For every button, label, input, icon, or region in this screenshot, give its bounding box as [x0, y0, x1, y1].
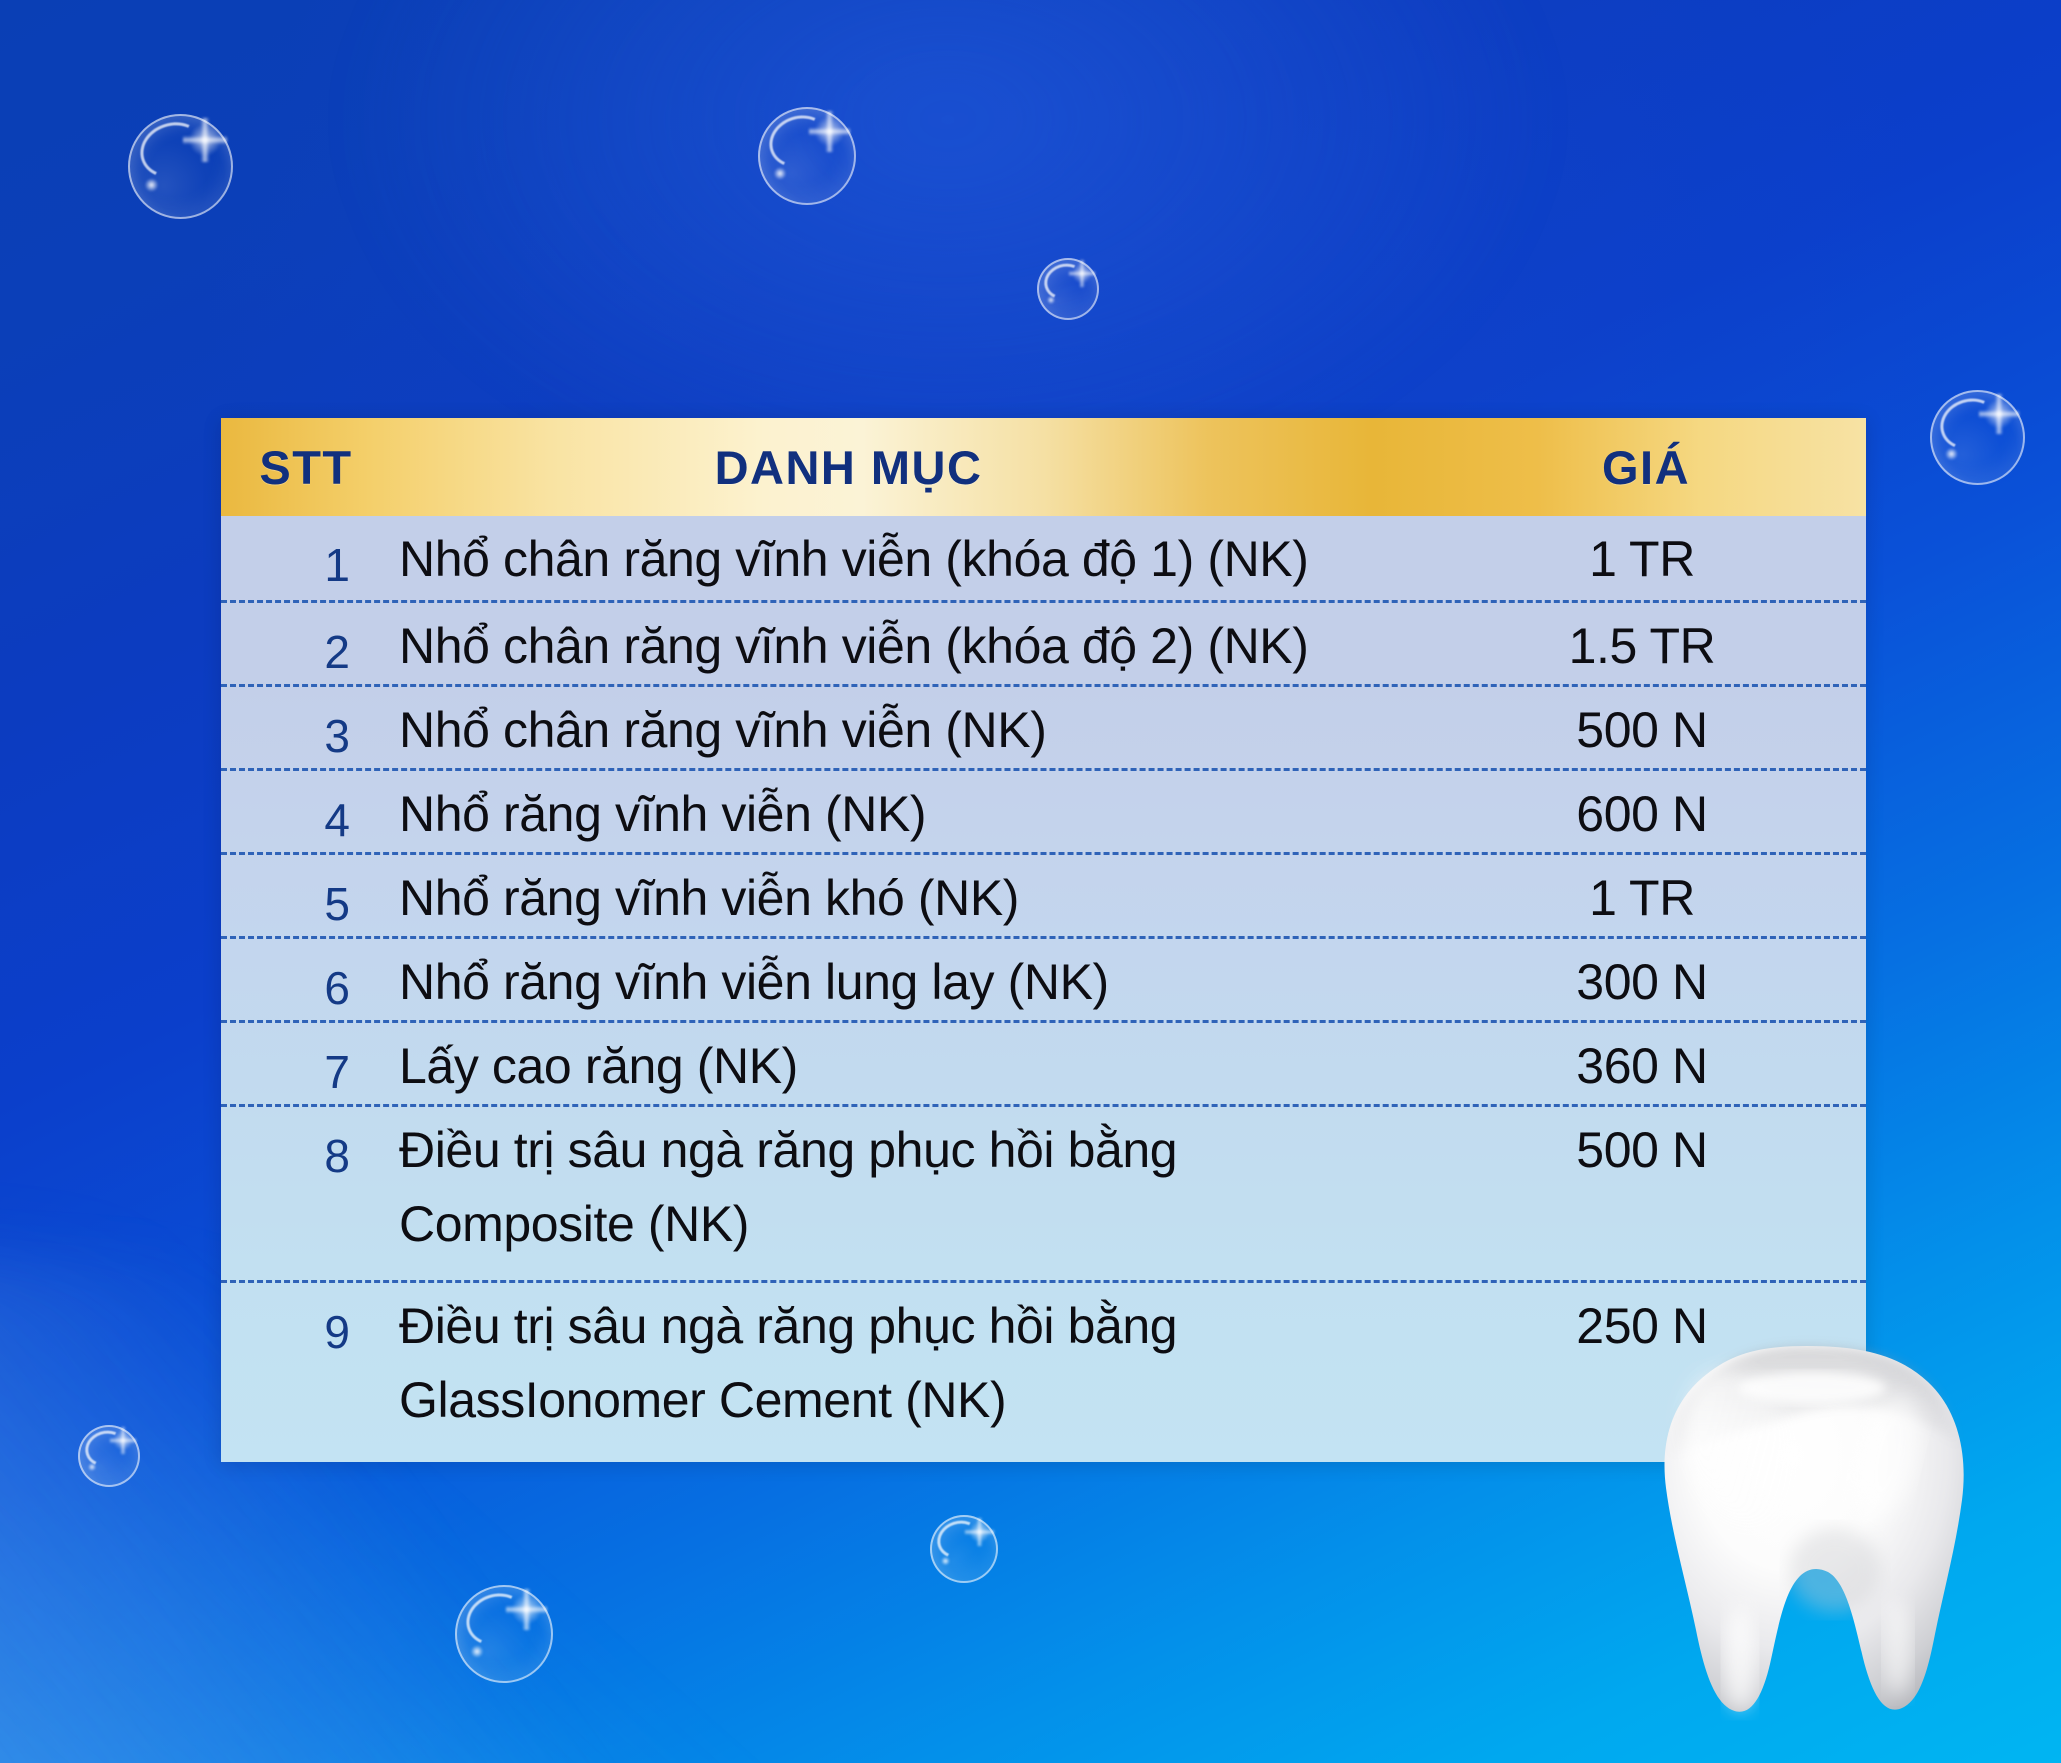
table-row: 9Điều trị sâu ngà răng phục hồi bằng Gla… — [221, 1280, 1866, 1456]
bubble-top-left-icon — [128, 114, 233, 219]
cell-price: 360 N — [1466, 1023, 1866, 1103]
cell-stt: 5 — [221, 855, 371, 931]
cell-stt: 7 — [221, 1023, 371, 1099]
table-row: 7Lấy cao răng (NK)360 N — [221, 1020, 1866, 1104]
cell-service-name: Lấy cao răng (NK) — [371, 1023, 1466, 1103]
cell-price: 250 N — [1466, 1283, 1866, 1363]
table-row: 2Nhổ chân răng vĩnh viễn (khóa độ 2) (NK… — [221, 600, 1866, 684]
cell-stt: 3 — [221, 687, 371, 763]
table-row: 3Nhổ chân răng vĩnh viễn (NK)500 N — [221, 684, 1866, 768]
table-row: 8Điều trị sâu ngà răng phục hồi bằng Com… — [221, 1104, 1866, 1280]
price-table: STT DANH MỤC GIÁ 1Nhổ chân răng vĩnh viễ… — [221, 418, 1866, 1462]
cell-price: 500 N — [1466, 687, 1866, 767]
cell-service-name: Điều trị sâu ngà răng phục hồi bằng Comp… — [371, 1107, 1466, 1261]
column-header-stt: STT — [221, 440, 391, 495]
bubble-highlight-icon — [88, 1463, 96, 1471]
cell-service-name: Nhổ răng vĩnh viễn lung lay (NK) — [371, 939, 1466, 1019]
column-header-name: DANH MỤC — [391, 440, 1466, 495]
cell-service-name: Nhổ răng vĩnh viễn khó (NK) — [371, 855, 1466, 935]
bubble-bottom-center-icon — [930, 1515, 998, 1583]
bubble-highlight-icon — [774, 167, 787, 180]
cell-price: 1 TR — [1466, 516, 1866, 596]
cell-price: 600 N — [1466, 771, 1866, 851]
cell-stt: 1 — [221, 516, 371, 592]
cell-service-name: Nhổ chân răng vĩnh viễn (khóa độ 1) (NK) — [371, 516, 1466, 596]
cell-stt: 4 — [221, 771, 371, 847]
bubble-highlight-icon — [1945, 448, 1957, 460]
table-row: 6Nhổ răng vĩnh viễn lung lay (NK)300 N — [221, 936, 1866, 1020]
cell-service-name: Nhổ chân răng vĩnh viễn (khóa độ 2) (NK) — [371, 603, 1466, 683]
table-body: 1Nhổ chân răng vĩnh viễn (khóa độ 1) (NK… — [221, 516, 1866, 1462]
cell-stt: 9 — [221, 1283, 371, 1359]
cell-price: 300 N — [1466, 939, 1866, 1019]
bubble-highlight-icon — [471, 1645, 484, 1658]
cell-price: 1 TR — [1466, 855, 1866, 935]
column-header-price: GIÁ — [1466, 440, 1866, 495]
table-row: 5Nhổ răng vĩnh viễn khó (NK)1 TR — [221, 852, 1866, 936]
cell-service-name: Điều trị sâu ngà răng phục hồi bằng Glas… — [371, 1283, 1466, 1437]
cell-stt: 8 — [221, 1107, 371, 1183]
table-row: 4Nhổ răng vĩnh viễn (NK)600 N — [221, 768, 1866, 852]
bubble-highlight-icon — [145, 178, 159, 192]
bubble-highlight-icon — [941, 1557, 950, 1566]
poster-canvas: STT DANH MỤC GIÁ 1Nhổ chân răng vĩnh viễ… — [0, 0, 2061, 1763]
cell-service-name: Nhổ răng vĩnh viễn (NK) — [371, 771, 1466, 851]
cell-stt: 2 — [221, 603, 371, 679]
bubble-upper-right-icon — [1037, 258, 1099, 320]
bubble-bottom-left-big-icon — [455, 1585, 553, 1683]
table-header-row: STT DANH MỤC GIÁ — [221, 418, 1866, 516]
table-row: 1Nhổ chân răng vĩnh viễn (khóa độ 1) (NK… — [221, 516, 1866, 600]
bubble-highlight-icon — [1047, 296, 1055, 304]
bubble-lower-left-icon — [78, 1425, 140, 1487]
cell-service-name: Nhổ chân răng vĩnh viễn (NK) — [371, 687, 1466, 767]
bubble-right-edge-icon — [1930, 390, 2025, 485]
cell-price: 500 N — [1466, 1107, 1866, 1187]
cell-price: 1.5 TR — [1466, 603, 1866, 683]
bubble-top-center-icon — [758, 107, 856, 205]
cell-stt: 6 — [221, 939, 371, 1015]
